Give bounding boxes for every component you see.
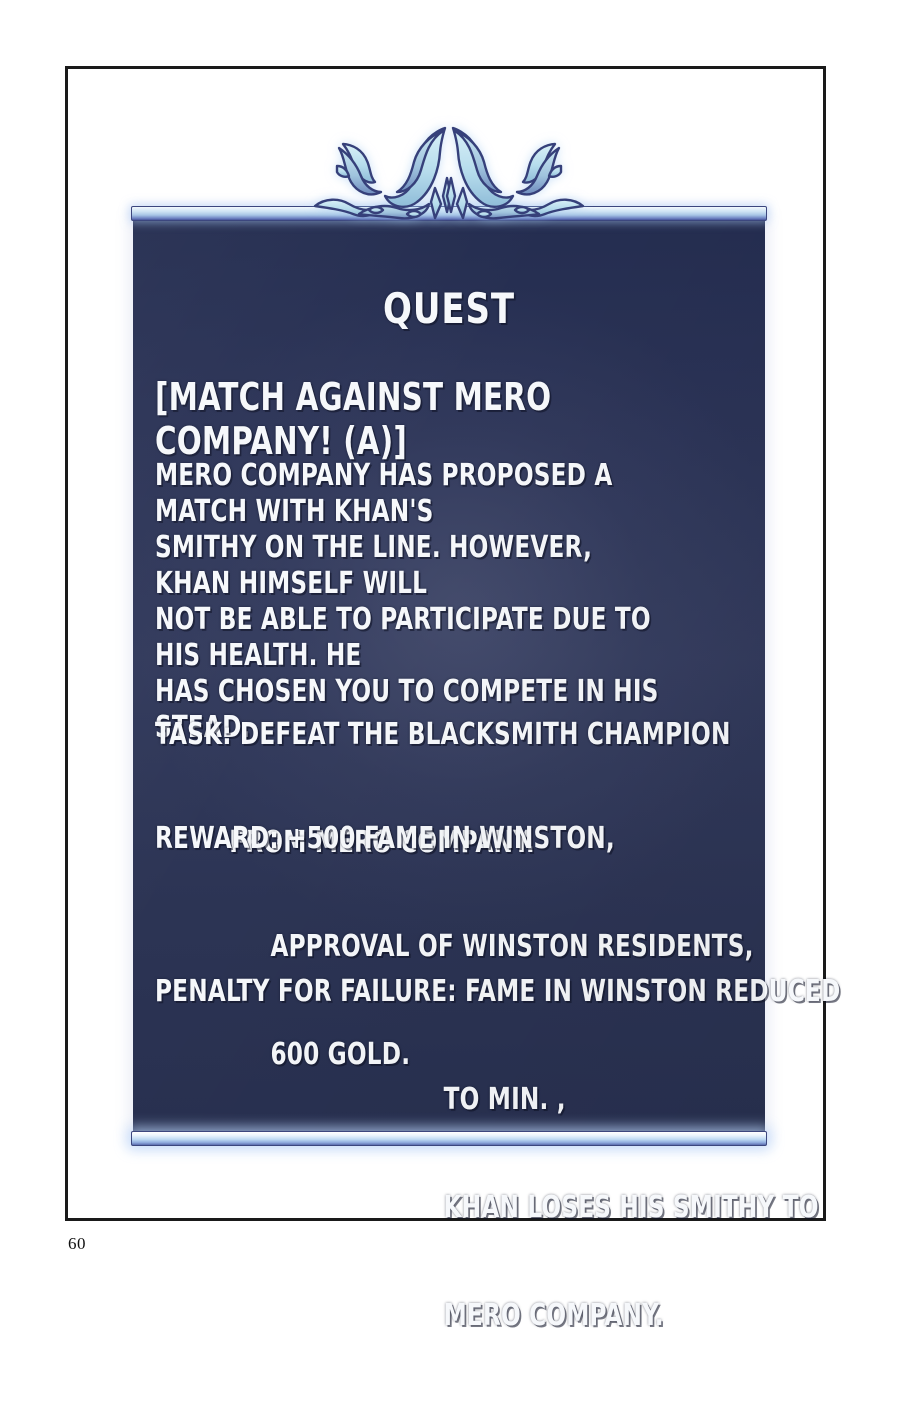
penalty-line: KHAN LOSES HIS SMITHY TO xyxy=(155,1190,664,1226)
panel-top-rail xyxy=(131,206,767,221)
penalty-line: MERO COMPANY. xyxy=(155,1298,664,1334)
task-line: TASK: DEFEAT THE BLACKSMITH CHAMPION xyxy=(155,717,664,753)
description-line: MERO COMPANY HAS PROPOSED A MATCH WITH K… xyxy=(155,458,664,530)
penalty-line: PENALTY FOR FAILURE: FAME IN WINSTON RED… xyxy=(155,974,664,1010)
page-number: 60 xyxy=(68,1234,86,1254)
quest-panel: QUEST [MATCH AGAINST MERO COMPANY! (A)] … xyxy=(133,206,765,1146)
quest-panel-body: QUEST [MATCH AGAINST MERO COMPANY! (A)] … xyxy=(133,213,765,1139)
quest-penalty: PENALTY FOR FAILURE: FAME IN WINSTON RED… xyxy=(155,902,664,1406)
quest-heading: QUEST xyxy=(165,285,734,333)
reward-line: REWARD: +500 FAME IN WINSTON, xyxy=(155,821,664,857)
panel-bottom-rail xyxy=(131,1131,767,1146)
quest-title: [MATCH AGAINST MERO COMPANY! (A)] xyxy=(155,375,664,463)
penalty-line: TO MIN. , xyxy=(155,1082,664,1118)
description-line: SMITHY ON THE LINE. HOWEVER, KHAN HIMSEL… xyxy=(155,530,664,602)
